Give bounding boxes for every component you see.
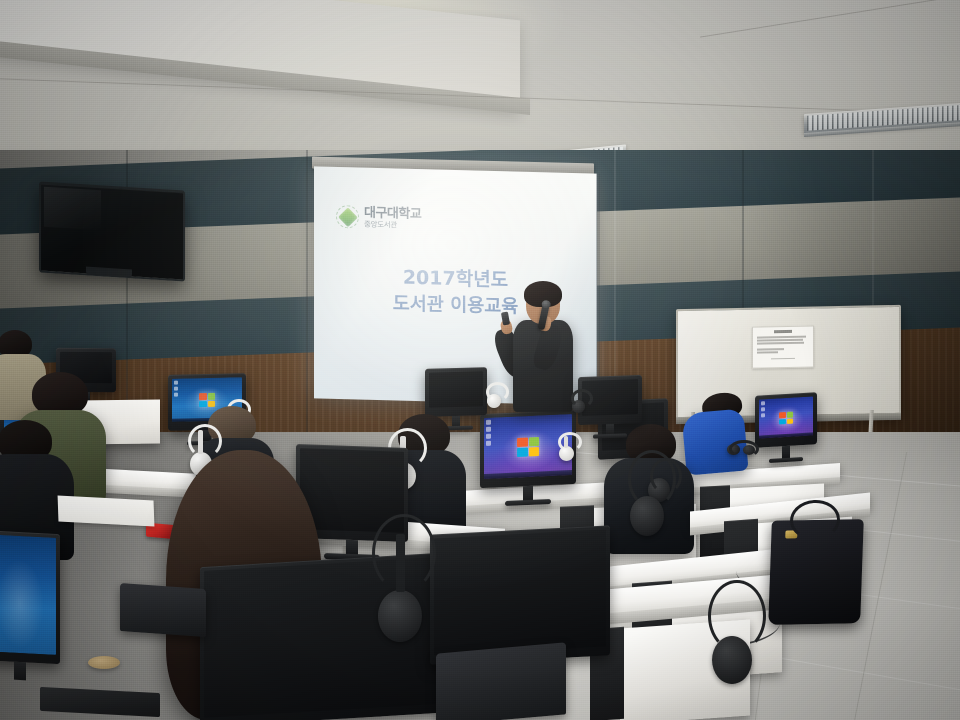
recessed-fluorescent-troffer [804, 102, 960, 134]
monitor-rear[interactable] [430, 525, 610, 664]
posted-notice [752, 326, 814, 369]
classroom-photo-scene: 대구대학교 중앙도서관 2017학년도 도서관 이용교육 [0, 0, 960, 720]
wall-mounted-display[interactable] [39, 181, 185, 281]
white-handout[interactable] [58, 495, 155, 526]
chair[interactable] [120, 583, 206, 637]
presentation-clicker[interactable] [501, 311, 510, 325]
monitor[interactable] [425, 367, 487, 417]
monitor[interactable] [755, 392, 817, 448]
chair[interactable] [436, 642, 566, 720]
ceiling-seam [700, 0, 960, 38]
screen-right-edge [596, 174, 600, 406]
monitor[interactable] [0, 530, 60, 664]
small-tan-object [88, 656, 120, 669]
presenter-with-microphone [505, 284, 579, 410]
screen-glare [44, 187, 101, 231]
